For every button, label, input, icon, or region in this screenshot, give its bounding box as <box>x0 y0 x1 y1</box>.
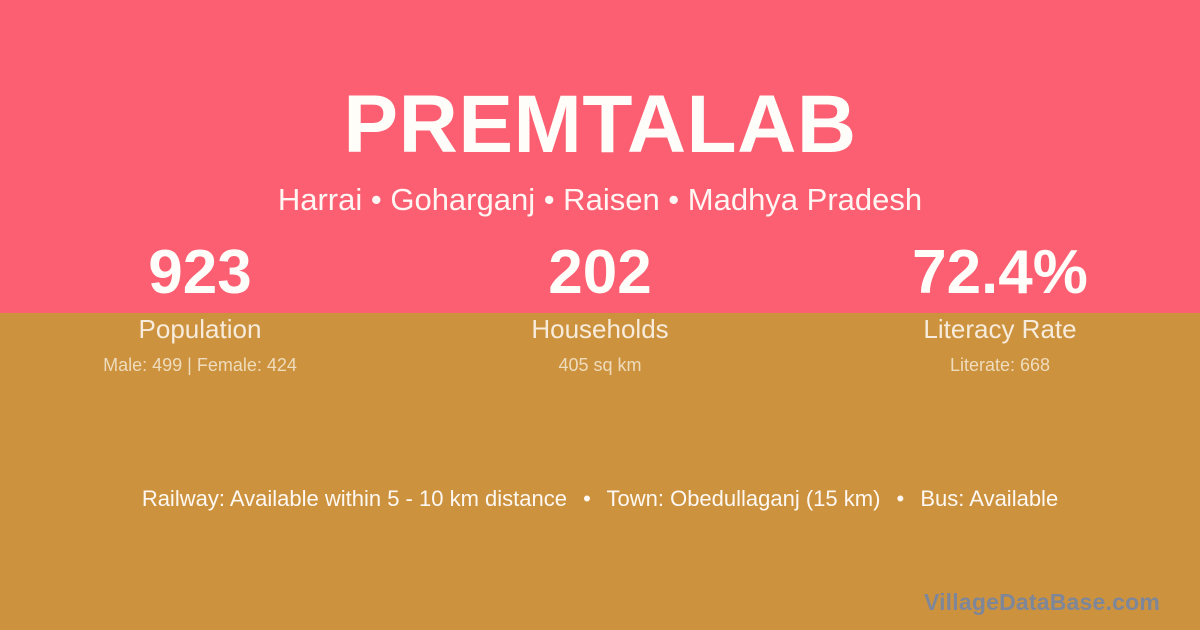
stat-value: 72.4% <box>800 240 1200 306</box>
stat-subtext: Literate: 668 <box>800 354 1200 376</box>
stat-value: 923 <box>0 240 400 306</box>
stat-subtext: Male: 499 | Female: 424 <box>0 354 400 376</box>
stat-value: 202 <box>400 240 800 306</box>
bullet-separator-icon: • <box>573 484 601 514</box>
facility-bus: Bus: Available <box>920 486 1058 511</box>
site-watermark: VillageDataBase.com <box>924 588 1160 616</box>
stat-label: Households <box>400 314 800 344</box>
card-header: PREMTALAB Harrai • Goharganj • Raisen • … <box>0 0 1200 218</box>
stats-row: 923 Population Male: 499 | Female: 424 2… <box>0 240 1200 376</box>
facility-town: Town: Obedullaganj (15 km) <box>607 486 881 511</box>
stat-literacy-rate: 72.4% Literacy Rate Literate: 668 <box>800 240 1200 376</box>
stat-population: 923 Population Male: 499 | Female: 424 <box>0 240 400 376</box>
stat-label: Literacy Rate <box>800 314 1200 344</box>
bullet-separator-icon: • <box>887 484 915 514</box>
facility-railway: Railway: Available within 5 - 10 km dist… <box>142 486 567 511</box>
stat-subtext: 405 sq km <box>400 354 800 376</box>
facilities-line: Railway: Available within 5 - 10 km dist… <box>0 484 1200 514</box>
village-info-card: PREMTALAB Harrai • Goharganj • Raisen • … <box>0 0 1200 630</box>
page-title: PREMTALAB <box>0 0 1200 168</box>
breadcrumb: Harrai • Goharganj • Raisen • Madhya Pra… <box>0 168 1200 218</box>
stat-label: Population <box>0 314 400 344</box>
stat-households: 202 Households 405 sq km <box>400 240 800 376</box>
